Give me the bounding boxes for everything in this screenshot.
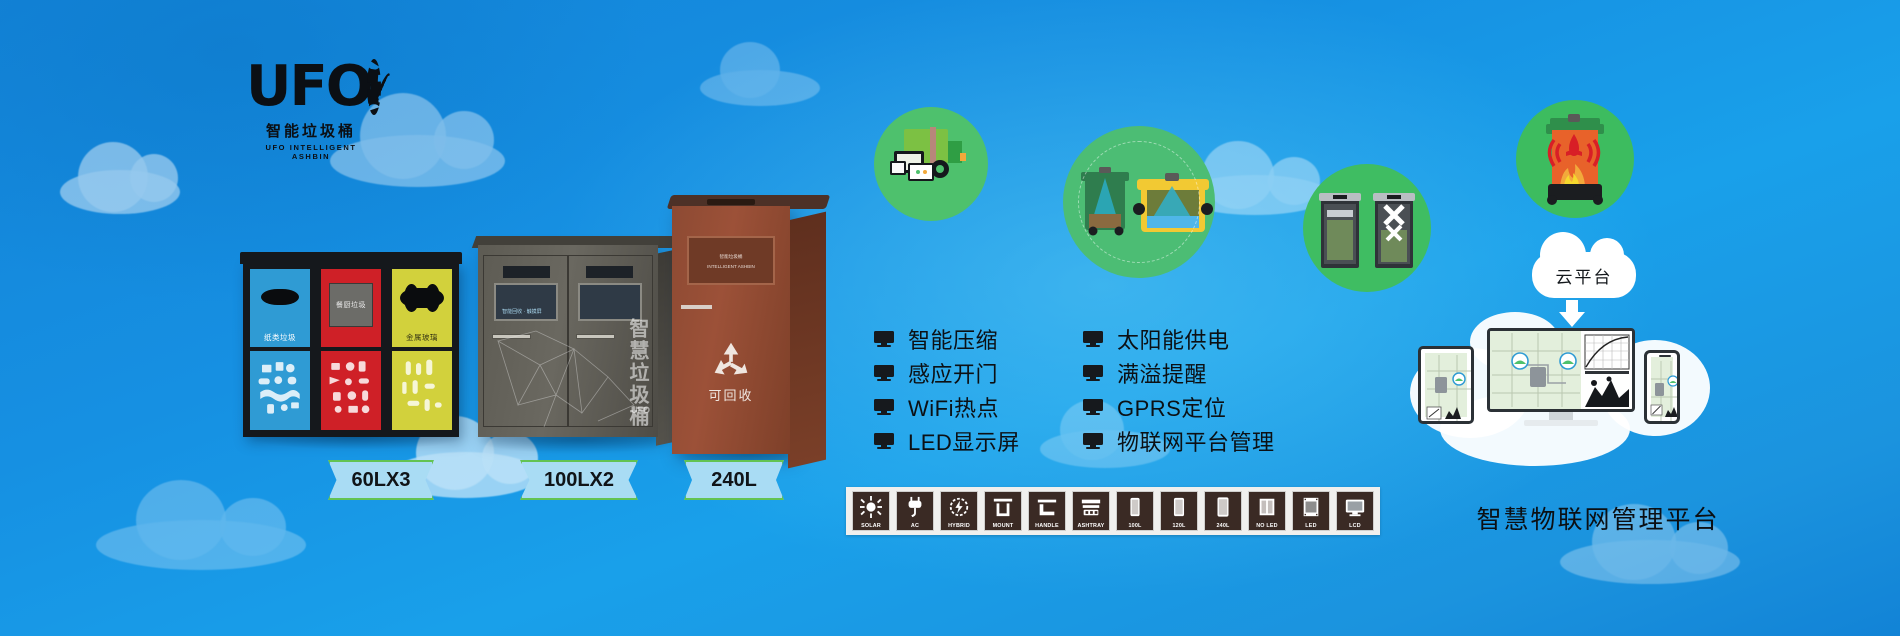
bin-front-body: 智能回收 · 触摸屏 智慧垃圾桶 UFO (478, 245, 658, 437)
feature-label: 太阳能供电 (1117, 323, 1230, 355)
feature-item: WiFi热点 (874, 390, 1020, 424)
kitchen-waste-graphic (321, 351, 381, 428)
bin-top-blue: 纸类垃圾 (250, 269, 310, 347)
screen-line-2: INTELLIGENT ASHBIN (689, 264, 772, 269)
feature-label: WiFi热点 (908, 391, 999, 423)
spec-100l[interactable]: 100L (1116, 491, 1154, 531)
bin-label-yellow: 金属玻璃 (392, 332, 452, 343)
spec-ac[interactable]: AC (896, 491, 934, 531)
cloud-platform-label: 云平台 (1556, 263, 1613, 288)
spec-caption: NO LED (1249, 523, 1285, 529)
capacity-tag: 60LX3 (328, 460, 434, 500)
feature-item: 太阳能供电 (1083, 322, 1275, 356)
led-panel-icon (1298, 495, 1324, 518)
panel-slot-icon: 餐厨垃圾 (329, 283, 372, 327)
spec-caption: LED (1293, 523, 1329, 529)
bin-120l-icon (1166, 495, 1192, 518)
spec-icon-strip: SOLAR AC HYBRID MOUNT (846, 487, 1380, 535)
bin-body-red (321, 351, 381, 430)
bin-ultrasonic-sensor-icon (1063, 126, 1215, 278)
spec-handle[interactable]: HANDLE (1028, 491, 1066, 531)
bin-frame: 纸类垃圾 (243, 262, 459, 437)
cloud-decoration (60, 170, 180, 214)
feature-item: LED显示屏 (874, 424, 1020, 458)
bin-label-blue: 纸类垃圾 (250, 332, 310, 343)
bin-100l-icon (1122, 495, 1148, 518)
cloud-platform-badge: 云平台 (1532, 252, 1636, 298)
platform-title: 智慧物联网管理平台 (1448, 500, 1748, 536)
monitor-icon (1083, 433, 1103, 449)
cloud-decoration (1560, 540, 1740, 584)
fire-alarm-circle (1516, 100, 1634, 218)
phone-screen-graphic (1647, 353, 1680, 424)
bin-240l-icon (1210, 495, 1236, 518)
feature-item: 物联网平台管理 (1083, 424, 1275, 458)
spec-caption: AC (897, 523, 933, 529)
capacity-tag: 100LX2 (520, 460, 638, 500)
recycle-icon (709, 340, 753, 380)
monitor-screen (1487, 328, 1635, 412)
bin-body-yellow (392, 351, 452, 430)
feature-label: 智能压缩 (908, 323, 998, 355)
feature-item: 满溢提醒 (1083, 356, 1275, 390)
spec-caption: 240L (1205, 523, 1241, 529)
bin-top-red: 餐厨垃圾 (321, 269, 381, 347)
feature-label: 感应开门 (908, 357, 998, 389)
spec-ashtray[interactable]: ASHTRAY (1072, 491, 1110, 531)
monitor-icon (1083, 365, 1103, 381)
bin-compartment-red: 餐厨垃圾 (317, 265, 388, 434)
spec-solar[interactable]: SOLAR (852, 491, 890, 531)
feature-label: 满溢提醒 (1117, 357, 1207, 389)
monitor-base (1524, 420, 1598, 426)
bin-panel-text: 餐厨垃圾 (336, 300, 366, 310)
brand-logo: UFO 智能垃圾桶 UFO INTELLIGENT ASHBIN (246, 56, 376, 161)
spec-120l[interactable]: 120L (1160, 491, 1198, 531)
wall-mount-icon (990, 495, 1016, 518)
monitor-icon (874, 331, 894, 347)
spec-caption: HANDLE (1029, 523, 1065, 529)
bin-body-blue (250, 351, 310, 430)
spec-caption: HYBRID (941, 523, 977, 529)
logo-wordmark: UFO (246, 59, 371, 115)
three-compartment-classified-bin: 纸类垃圾 (243, 262, 459, 437)
desktop-monitor (1487, 328, 1635, 426)
bin-front-body: 智能垃圾桶 INTELLIGENT ASHBIN 可回收 (672, 206, 790, 454)
monitor-icon (1083, 399, 1103, 415)
bin-compartment-blue: 纸类垃圾 (246, 265, 317, 434)
metal-glass-graphic (392, 351, 452, 428)
oval-slot-icon (261, 289, 299, 305)
bin-fire-alarm-icon (1516, 100, 1634, 218)
logo-english-name: UFO INTELLIGENT ASHBIN (246, 143, 376, 161)
bin-side-panel (788, 212, 826, 469)
feature-item: GPRS定位 (1083, 390, 1275, 424)
spec-caption: 100L (1117, 523, 1153, 529)
monitor-neck (1549, 412, 1573, 420)
power-plug-icon (902, 495, 928, 518)
spec-caption: MOUNT (985, 523, 1021, 529)
bin-compartment-yellow: 金属玻璃 (388, 265, 456, 434)
sun-icon (858, 495, 884, 518)
monitor-icon (874, 399, 894, 415)
dual-smart-compacting-bin: 智能回收 · 触摸屏 智慧垃圾桶 UFO (478, 245, 658, 437)
no-led-icon (1254, 495, 1280, 518)
spec-caption: 120L (1161, 523, 1197, 529)
single-recyclable-bin: 智能垃圾桶 INTELLIGENT ASHBIN 可回收 (672, 206, 790, 454)
spec-caption: LCD (1337, 523, 1373, 529)
monitor-icon (874, 433, 894, 449)
garbage-truck-with-devices-icon (874, 107, 988, 221)
cloud-decoration (96, 520, 306, 570)
screen-line-1: 智能垃圾桶 (689, 254, 772, 260)
bin-recycle-label: 可回收 (672, 385, 790, 404)
feature-label: LED显示屏 (908, 425, 1020, 457)
tablet-screen-graphic (1421, 349, 1474, 424)
monitor-icon (1083, 331, 1103, 347)
ashtray-icon (1078, 495, 1104, 518)
handle-icon (1034, 495, 1060, 518)
capacity-tag: 240L (684, 460, 784, 500)
feature-list-left: 智能压缩 感应开门 WiFi热点 LED显示屏 (874, 322, 1020, 458)
spec-240l[interactable]: 240L (1204, 491, 1242, 531)
feature-list-right: 太阳能供电 满溢提醒 GPRS定位 物联网平台管理 (1083, 322, 1275, 458)
two-compacting-bins-icon (1303, 164, 1431, 292)
spec-hybrid[interactable]: HYBRID (940, 491, 978, 531)
lcd-screen-icon (1342, 495, 1368, 518)
logo-chinese-name: 智能垃圾桶 (246, 120, 376, 141)
product-banner: UFO 智能垃圾桶 UFO INTELLIGENT ASHBIN 纸类垃圾 (0, 0, 1900, 636)
spec-caption: ASHTRAY (1073, 523, 1109, 529)
monitor-screen-graphic (1490, 331, 1632, 409)
bin-top-yellow: 金属玻璃 (392, 269, 452, 347)
flower-slot-icon (400, 288, 443, 308)
monitor-icon (874, 365, 894, 381)
hybrid-power-icon (946, 495, 972, 518)
feature-item: 智能压缩 (874, 322, 1020, 356)
fill-level-sensor-circle (1063, 126, 1215, 278)
bin-handle (681, 305, 712, 309)
info-screen-panel: 智能垃圾桶 INTELLIGENT ASHBIN (687, 236, 774, 286)
feature-item: 感应开门 (874, 356, 1020, 390)
feature-label: 物联网平台管理 (1117, 425, 1275, 457)
spec-lcd[interactable]: LCD (1336, 491, 1374, 531)
bin-brand-mark: UFO (631, 405, 650, 415)
cloud-decoration (700, 70, 820, 106)
spec-no-led[interactable]: NO LED (1248, 491, 1286, 531)
led-strip-icon (707, 199, 754, 205)
compaction-circle (1303, 164, 1431, 292)
tablet-device (1418, 346, 1474, 424)
spec-led[interactable]: LED (1292, 491, 1330, 531)
smartphone-device (1644, 350, 1680, 424)
bin-lid (240, 252, 462, 264)
feature-label: GPRS定位 (1117, 391, 1226, 423)
recyclable-items-graphic (250, 351, 310, 428)
logo-wordmark-row: UFO (246, 56, 376, 118)
spec-mount[interactable]: MOUNT (984, 491, 1022, 531)
spec-caption: SOLAR (853, 523, 889, 529)
fleet-monitoring-circle (874, 107, 988, 221)
